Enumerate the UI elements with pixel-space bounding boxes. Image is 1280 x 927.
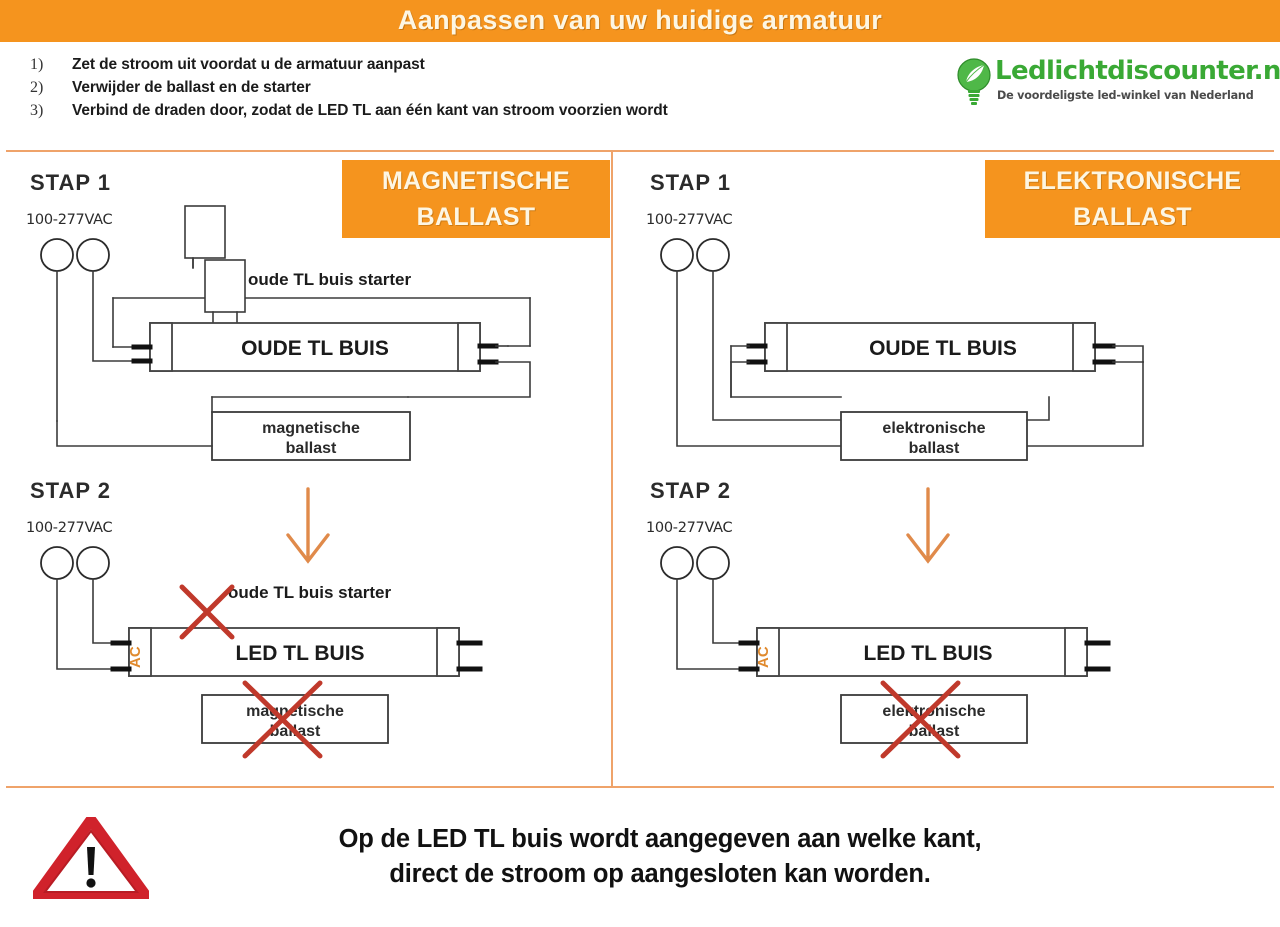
- panel-magnetic-ballast: MAGNETISCHE BALLAST STAP 1 100-277VAC ST…: [0, 150, 611, 786]
- footer-warning-text: Op de LED TL buis wordt aangegeven aan w…: [180, 822, 1140, 892]
- down-arrow-icon: [288, 489, 328, 561]
- right-panel-diagram: OUDE TL BUIS elektronische ballast LED T…: [613, 150, 1280, 786]
- right-step2-ac-label: AC: [755, 646, 772, 668]
- logo-tagline: De voordeligste led-winkel van Nederland: [997, 89, 1254, 102]
- divider-bottom: [6, 786, 1274, 788]
- instruction-list: 1) Zet de stroom uit voordat u de armatu…: [30, 56, 930, 125]
- left-step2-ac-label: AC: [127, 646, 144, 668]
- footer-line-2: direct de stroom op aangesloten kan word…: [180, 857, 1140, 892]
- footer-warning: Op de LED TL buis wordt aangegeven aan w…: [0, 790, 1280, 927]
- left-step2-tube-label: LED TL BUIS: [235, 642, 364, 665]
- left-step1-ballast-line1: magnetische: [262, 420, 360, 437]
- footer-line-1: Op de LED TL buis wordt aangegeven aan w…: [180, 822, 1140, 857]
- right-step1-ballast-line1: elektronische: [882, 420, 985, 437]
- page-title: Aanpassen van uw huidige armatuur: [0, 0, 1280, 42]
- list-item-text: Zet de stroom uit voordat u de armatuur …: [72, 56, 425, 74]
- list-item-text: Verwijder de ballast en de starter: [72, 79, 311, 97]
- list-item: 2) Verwijder de ballast en de starter: [30, 79, 930, 97]
- right-step2-tube-label: LED TL BUIS: [863, 642, 992, 665]
- list-item-number: 1): [30, 56, 72, 74]
- left-step1-ballast-line2: ballast: [286, 440, 337, 457]
- logo-name: Ledlichtdiscounter.nl: [995, 56, 1280, 86]
- list-item-text: Verbind de draden door, zodat de LED TL …: [72, 102, 668, 120]
- lightbulb-leaf-icon: [955, 58, 993, 106]
- panel-electronic-ballast: ELEKTRONISCHE BALLAST STAP 1 100-277VAC …: [613, 150, 1280, 786]
- list-item: 1) Zet de stroom uit voordat u de armatu…: [30, 56, 930, 74]
- down-arrow-icon: [908, 489, 948, 561]
- list-item-number: 3): [30, 102, 72, 120]
- right-step1-ballast-line2: ballast: [909, 440, 960, 457]
- infographic-page: Aanpassen van uw huidige armatuur 1) Zet…: [0, 0, 1280, 927]
- left-step1-tube-label: OUDE TL BUIS: [241, 337, 389, 360]
- warning-triangle-icon: [33, 817, 149, 899]
- left-panel-diagram: oude TL buis starter OUDE TL BUIS magnet…: [0, 150, 611, 786]
- left-step1-starter-label: oude TL buis starter: [248, 270, 411, 289]
- brand-logo: Ledlichtdiscounter.nl De voordeligste le…: [955, 58, 1260, 110]
- right-step1-tube-label: OUDE TL BUIS: [869, 337, 1017, 360]
- list-item: 3) Verbind de draden door, zodat de LED …: [30, 102, 930, 120]
- list-item-number: 2): [30, 79, 72, 97]
- left-step2-starter-label: oude TL buis starter: [228, 583, 391, 602]
